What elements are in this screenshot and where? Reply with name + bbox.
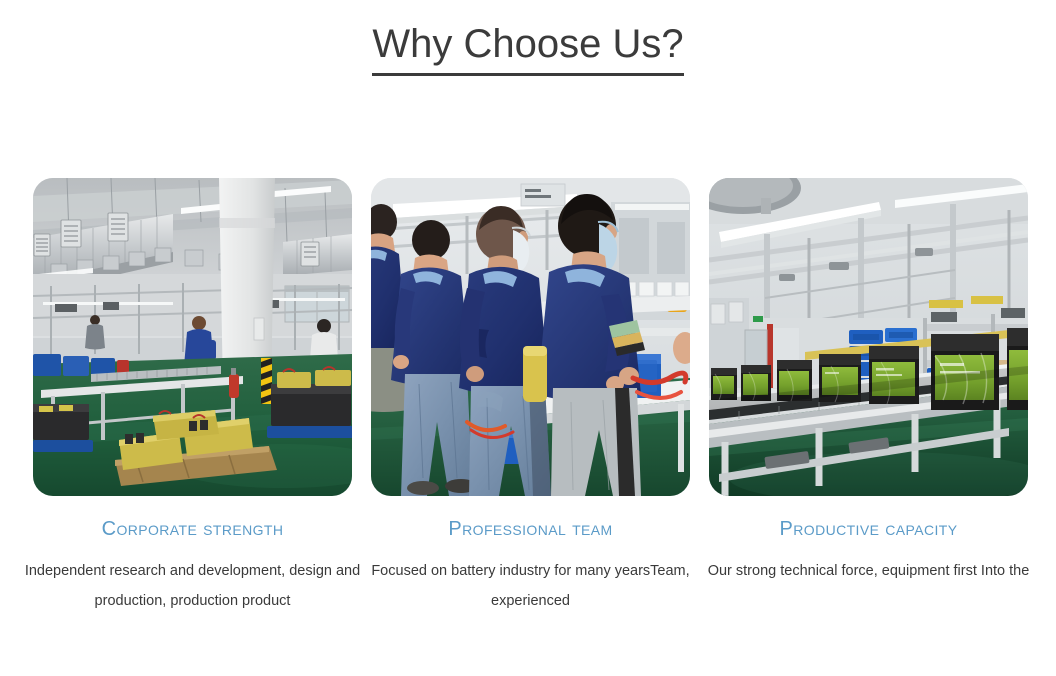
feature-card-corporate-strength: Corporate strength Independent research … bbox=[33, 178, 352, 617]
factory-workshop-photo bbox=[33, 178, 352, 496]
feature-card-professional-team: Professional team Focused on battery ind… bbox=[371, 178, 690, 617]
card-description: Our strong technical force, equipment fi… bbox=[699, 556, 1039, 586]
card-heading: Productive capacity bbox=[780, 518, 958, 540]
card-heading: Corporate strength bbox=[102, 518, 284, 540]
card-heading: Professional team bbox=[448, 518, 612, 540]
feature-cards-row: Corporate strength Independent research … bbox=[33, 178, 1023, 617]
card-description: Focused on battery industry for many yea… bbox=[371, 556, 691, 617]
page-title-container: Why Choose Us? bbox=[0, 0, 1056, 100]
page-title: Why Choose Us? bbox=[372, 24, 683, 76]
card-description: Independent research and development, de… bbox=[23, 556, 363, 617]
feature-card-productive-capacity: Productive capacity Our strong technical… bbox=[709, 178, 1028, 617]
production-line-photo bbox=[709, 178, 1028, 496]
workers-assembling-photo bbox=[371, 178, 690, 496]
why-choose-us-section: Why Choose Us? bbox=[0, 0, 1056, 676]
